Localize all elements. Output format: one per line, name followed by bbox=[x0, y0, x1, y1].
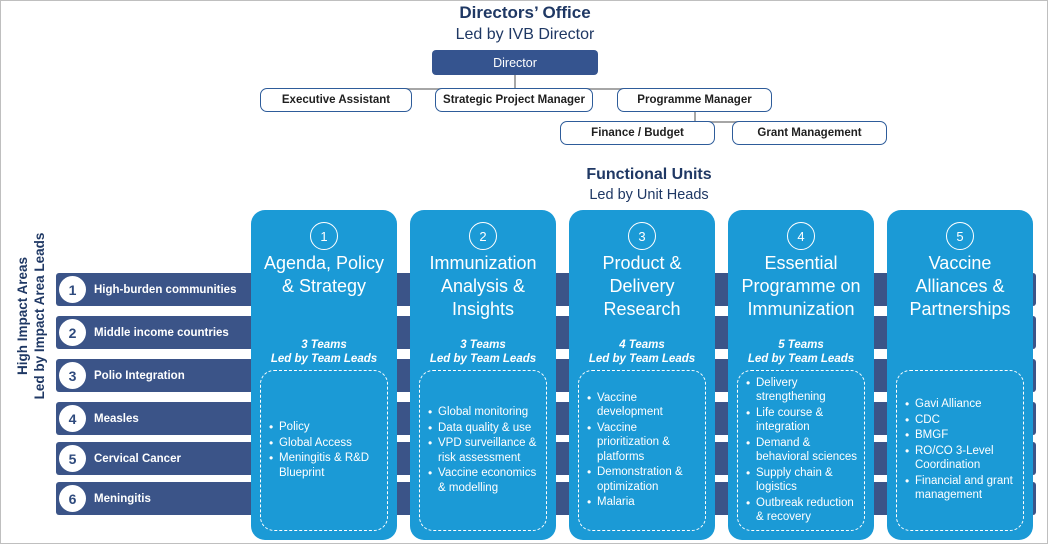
functional-unit-column[interactable]: 3Product & Delivery Research4 TeamsLed b… bbox=[569, 210, 715, 540]
unit-number-badge: 4 bbox=[787, 222, 815, 250]
impact-area-number: 1 bbox=[59, 276, 86, 303]
unit-team-leads: Led by Team Leads bbox=[575, 352, 709, 366]
unit-item[interactable]: Vaccine economics & modelling bbox=[428, 466, 540, 495]
unit-team-leads: Led by Team Leads bbox=[734, 352, 868, 366]
unit-title: Product & Delivery Research bbox=[575, 252, 709, 321]
impact-area-label: Middle income countries bbox=[94, 316, 229, 349]
unit-item[interactable]: Malaria bbox=[587, 495, 699, 510]
unit-item[interactable]: Financial and grant management bbox=[905, 474, 1017, 503]
unit-team-leads: Led by Team Leads bbox=[257, 352, 391, 366]
unit-items-list: Global monitoringData quality & useVPD s… bbox=[420, 405, 546, 496]
org-chart-canvas: Directors’ Office Led by IVB Director Di… bbox=[1, 1, 1048, 545]
impact-area-label: High-burden communities bbox=[94, 273, 236, 306]
unit-items-list: PolicyGlobal AccessMeningitis & R&D Blue… bbox=[261, 420, 387, 481]
unit-teams-info: 3 TeamsLed by Team Leads bbox=[416, 338, 550, 366]
unit-item[interactable]: Policy bbox=[269, 420, 381, 435]
unit-items-panel: PolicyGlobal AccessMeningitis & R&D Blue… bbox=[260, 370, 388, 531]
unit-title: Agenda, Policy & Strategy bbox=[257, 252, 391, 298]
impact-area-number: 2 bbox=[59, 319, 86, 346]
unit-items-list: Delivery strengtheningLife course & inte… bbox=[738, 376, 864, 526]
functional-unit-column[interactable]: 5Vaccine Alliances & PartnershipsGavi Al… bbox=[887, 210, 1033, 540]
unit-title: Immunization Analysis & Insights bbox=[416, 252, 550, 321]
unit-items-panel: Gavi AllianceCDCBMGFRO/CO 3-Level Coordi… bbox=[896, 370, 1024, 531]
unit-items-list: Gavi AllianceCDCBMGFRO/CO 3-Level Coordi… bbox=[897, 397, 1023, 504]
impact-area-number: 3 bbox=[59, 362, 86, 389]
unit-item[interactable]: VPD surveillance & risk assessment bbox=[428, 436, 540, 465]
unit-number-badge: 2 bbox=[469, 222, 497, 250]
unit-teams-info: 4 TeamsLed by Team Leads bbox=[575, 338, 709, 366]
unit-items-panel: Global monitoringData quality & useVPD s… bbox=[419, 370, 547, 531]
unit-item[interactable]: Vaccine development bbox=[587, 391, 699, 420]
unit-teams-info: 5 TeamsLed by Team Leads bbox=[734, 338, 868, 366]
unit-teams-info: 3 TeamsLed by Team Leads bbox=[257, 338, 391, 366]
unit-item[interactable]: Gavi Alliance bbox=[905, 397, 1017, 412]
axis-label-line2: Led by Impact Area Leads bbox=[31, 201, 48, 431]
functional-unit-column[interactable]: 4Essential Programme on Immunization5 Te… bbox=[728, 210, 874, 540]
unit-item[interactable]: Global monitoring bbox=[428, 405, 540, 420]
unit-number-badge: 1 bbox=[310, 222, 338, 250]
unit-item[interactable]: Life course & integration bbox=[746, 406, 858, 435]
unit-item[interactable]: Meningitis & R&D Blueprint bbox=[269, 451, 381, 480]
unit-team-count: 3 Teams bbox=[416, 338, 550, 352]
unit-title: Vaccine Alliances & Partnerships bbox=[893, 252, 1027, 321]
unit-item[interactable]: Demonstration & optimization bbox=[587, 465, 699, 494]
unit-item[interactable]: Supply chain & logistics bbox=[746, 466, 858, 495]
unit-item[interactable]: CDC bbox=[905, 413, 1017, 428]
axis-label-line1: High Impact Areas bbox=[14, 201, 31, 431]
unit-team-count: 3 Teams bbox=[257, 338, 391, 352]
functional-unit-column[interactable]: 1Agenda, Policy & Strategy3 TeamsLed by … bbox=[251, 210, 397, 540]
impact-area-label: Measles bbox=[94, 402, 139, 435]
unit-team-leads: Led by Team Leads bbox=[416, 352, 550, 366]
unit-item[interactable]: Global Access bbox=[269, 436, 381, 451]
functional-unit-column[interactable]: 2Immunization Analysis & Insights3 Teams… bbox=[410, 210, 556, 540]
unit-item[interactable]: Outbreak reduction & recovery bbox=[746, 496, 858, 525]
impact-area-label: Polio Integration bbox=[94, 359, 185, 392]
unit-team-count: 5 Teams bbox=[734, 338, 868, 352]
unit-item[interactable]: Vaccine prioritization & platforms bbox=[587, 421, 699, 465]
unit-number-badge: 3 bbox=[628, 222, 656, 250]
unit-item[interactable]: Delivery strengthening bbox=[746, 376, 858, 405]
unit-item[interactable]: BMGF bbox=[905, 428, 1017, 443]
unit-number-badge: 5 bbox=[946, 222, 974, 250]
impact-area-label: Cervical Cancer bbox=[94, 442, 181, 475]
unit-team-count: 4 Teams bbox=[575, 338, 709, 352]
impact-area-number: 6 bbox=[59, 485, 86, 512]
unit-item[interactable]: RO/CO 3-Level Coordination bbox=[905, 444, 1017, 473]
unit-items-panel: Delivery strengtheningLife course & inte… bbox=[737, 370, 865, 531]
unit-item[interactable]: Data quality & use bbox=[428, 421, 540, 436]
impact-area-number: 4 bbox=[59, 405, 86, 432]
unit-item[interactable]: Demand & behavioral sciences bbox=[746, 436, 858, 465]
impact-area-number: 5 bbox=[59, 445, 86, 472]
impact-area-label: Meningitis bbox=[94, 482, 151, 515]
unit-items-panel: Vaccine developmentVaccine prioritizatio… bbox=[578, 370, 706, 531]
unit-items-list: Vaccine developmentVaccine prioritizatio… bbox=[579, 391, 705, 511]
impact-areas-axis-label: High Impact Areas Led by Impact Area Lea… bbox=[14, 201, 54, 431]
unit-title: Essential Programme on Immunization bbox=[734, 252, 868, 321]
